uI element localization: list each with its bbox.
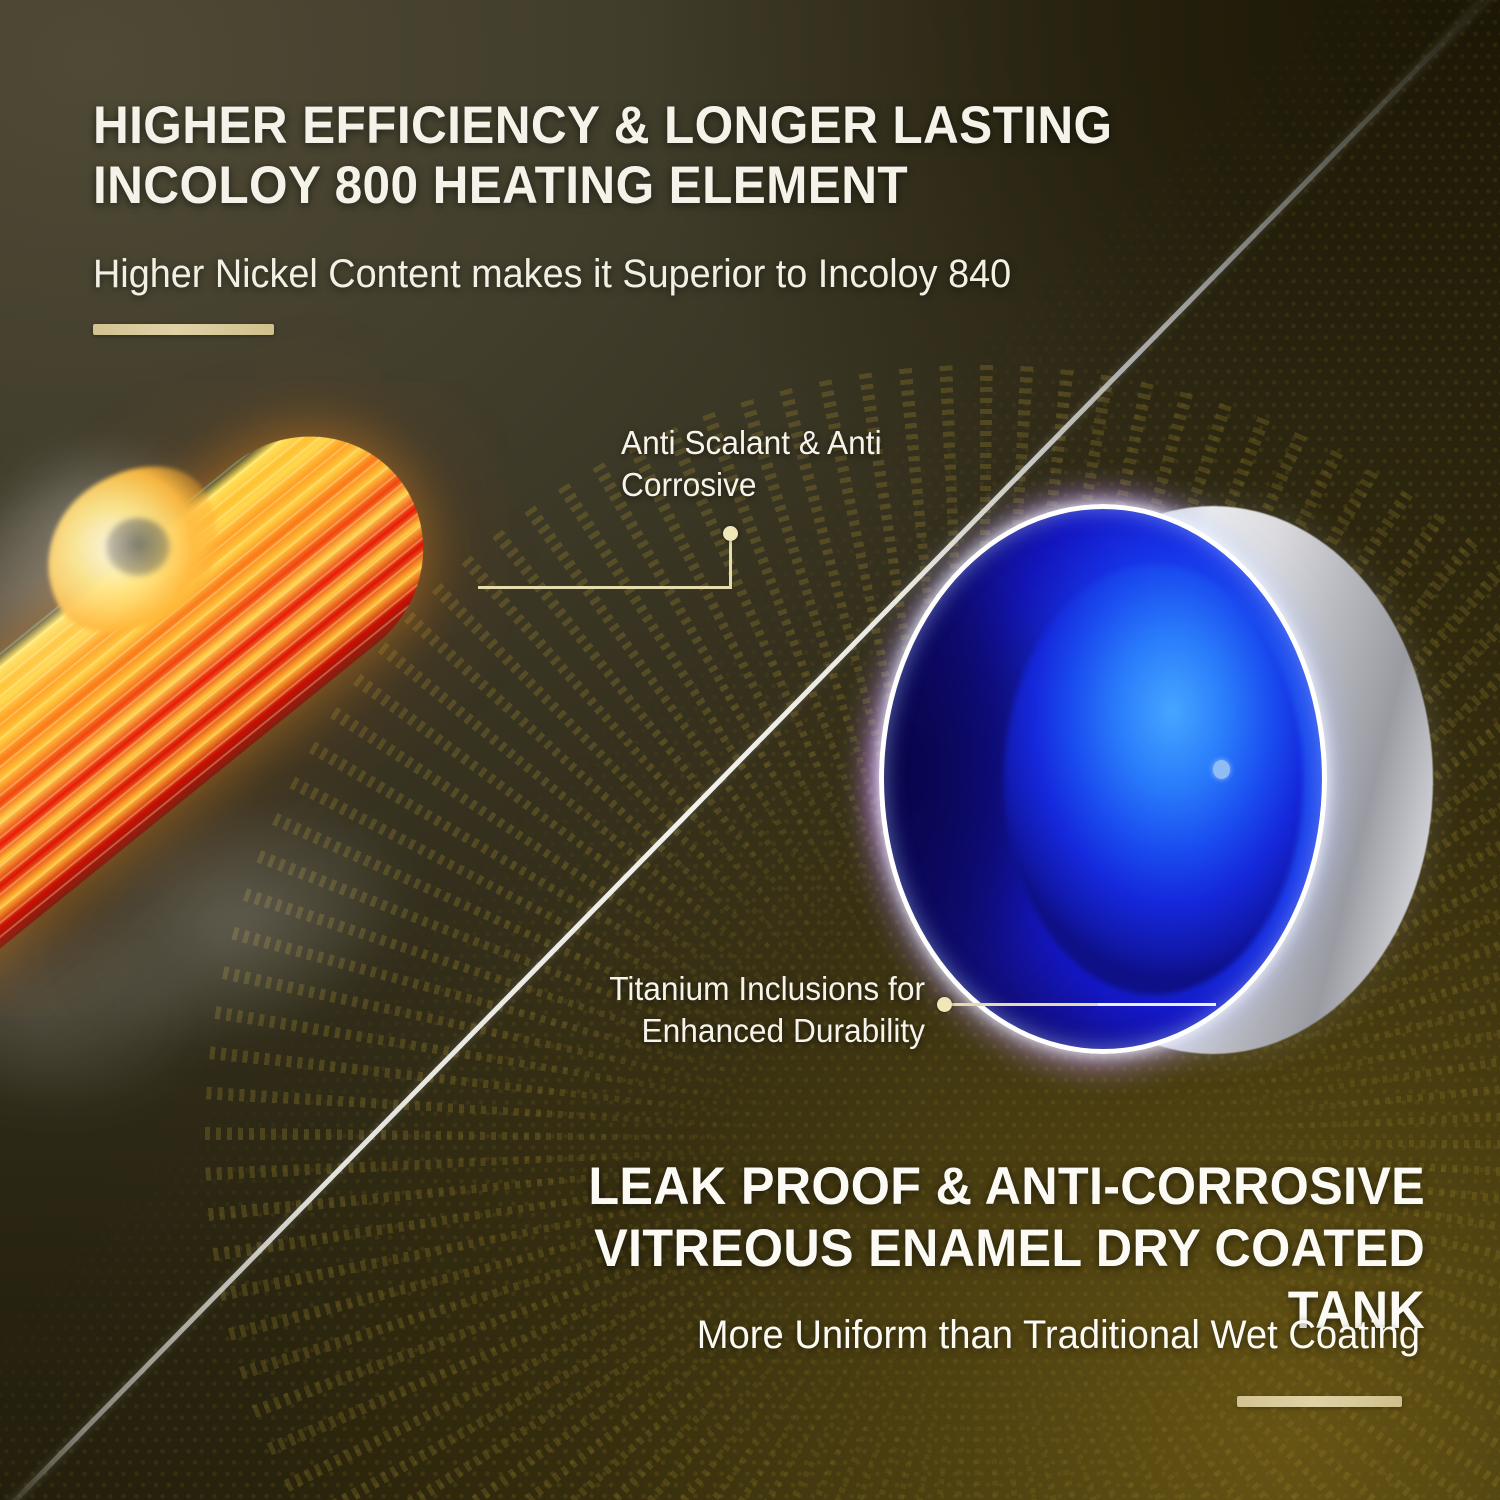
top-accent-bar [93,324,274,335]
callout-titanium-leader-horizontal [950,1003,1098,1006]
product-feature-panel: HIGHER EFFICIENCY & LONGER LASTING INCOL… [0,0,1500,1500]
bottom-subtitle: More Uniform than Traditional Wet Coatin… [465,1310,1420,1360]
callout-titanium-leader-dot [937,997,952,1012]
callout-titanium-inclusions-label: Titanium Inclusions for Enhanced Durabil… [488,968,925,1052]
callout-anti-scalant-leader-horizontal [478,586,732,589]
callout-anti-scalant-leader-dot [723,526,738,541]
top-headline: HIGHER EFFICIENCY & LONGER LASTING INCOL… [93,96,1159,216]
callout-anti-scalant-label: Anti Scalant & Anti Corrosive [621,422,1024,506]
bottom-accent-bar [1237,1396,1402,1407]
callout-titanium-leader-extension [1098,1003,1216,1006]
callout-anti-scalant-leader-vertical [729,534,732,588]
top-subtitle: Higher Nickel Content makes it Superior … [93,249,1208,299]
